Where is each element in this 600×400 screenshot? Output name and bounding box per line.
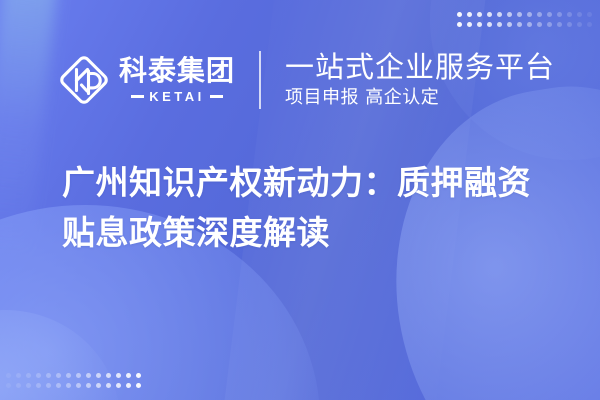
dot <box>126 383 131 388</box>
dot-grid-bottom-left <box>6 373 141 388</box>
dot <box>467 22 472 27</box>
dot <box>557 12 562 17</box>
dot <box>126 373 131 378</box>
ketai-kp-monogram-icon <box>60 56 108 104</box>
dot <box>577 22 582 27</box>
dot <box>96 383 101 388</box>
logo-company-name-en: KETAI <box>149 90 205 103</box>
dot <box>16 373 21 378</box>
dot <box>6 373 11 378</box>
dot <box>457 12 462 17</box>
dot <box>537 12 542 17</box>
dot <box>557 22 562 27</box>
dot-grid-top-right <box>457 12 592 27</box>
dot <box>46 373 51 378</box>
dot <box>537 22 542 27</box>
dot <box>547 12 552 17</box>
dot <box>76 383 81 388</box>
logo-company-name-cn: 科泰集团 <box>119 57 235 85</box>
promo-banner: 科泰集团 KETAI 一站式企业服务平台 项目申报 高企认定 广州知识产权新动力… <box>0 0 600 400</box>
dot <box>527 12 532 17</box>
dot-row <box>457 22 592 27</box>
vertical-divider <box>259 51 261 109</box>
dot <box>587 12 592 17</box>
logo-company-name-en-row: KETAI <box>131 90 223 103</box>
dot <box>547 22 552 27</box>
dot <box>106 373 111 378</box>
dot <box>86 373 91 378</box>
dot <box>527 22 532 27</box>
logo-rule-left <box>131 95 144 98</box>
dot <box>517 22 522 27</box>
dot <box>477 12 482 17</box>
dot <box>36 373 41 378</box>
dot <box>86 383 91 388</box>
dot <box>517 12 522 17</box>
dot <box>577 12 582 17</box>
dot <box>56 373 61 378</box>
dot <box>136 383 141 388</box>
dot <box>457 22 462 27</box>
dot <box>116 373 121 378</box>
dot <box>6 383 11 388</box>
dot <box>26 373 31 378</box>
dot <box>66 383 71 388</box>
dot <box>467 12 472 17</box>
dot <box>567 12 572 17</box>
dot <box>497 22 502 27</box>
dot-row <box>6 373 141 378</box>
dot <box>487 22 492 27</box>
dot <box>507 12 512 17</box>
dot <box>116 383 121 388</box>
brand-logo: 科泰集团 KETAI <box>60 56 235 104</box>
logo-wordmark: 科泰集团 KETAI <box>119 57 235 103</box>
dot <box>487 12 492 17</box>
dot <box>567 22 572 27</box>
tagline-secondary: 项目申报 高企认定 <box>285 87 555 110</box>
logo-rule-right <box>210 95 223 98</box>
headline-title: 广州知识产权新动力：质押融资贴息政策深度解读 <box>62 158 562 258</box>
dot-row <box>457 12 592 17</box>
dot <box>587 22 592 27</box>
dot <box>76 373 81 378</box>
dot <box>56 383 61 388</box>
dot <box>46 383 51 388</box>
dot <box>477 22 482 27</box>
dot <box>507 22 512 27</box>
dot <box>106 383 111 388</box>
tagline-primary: 一站式企业服务平台 <box>285 51 555 83</box>
dot <box>96 373 101 378</box>
dot-row <box>6 383 141 388</box>
dot <box>66 373 71 378</box>
tagline-block: 一站式企业服务平台 项目申报 高企认定 <box>285 51 555 110</box>
dot <box>36 383 41 388</box>
dot <box>136 373 141 378</box>
dot <box>26 383 31 388</box>
dot <box>497 12 502 17</box>
banner-header: 科泰集团 KETAI 一站式企业服务平台 项目申报 高企认定 <box>0 40 600 120</box>
dot <box>16 383 21 388</box>
